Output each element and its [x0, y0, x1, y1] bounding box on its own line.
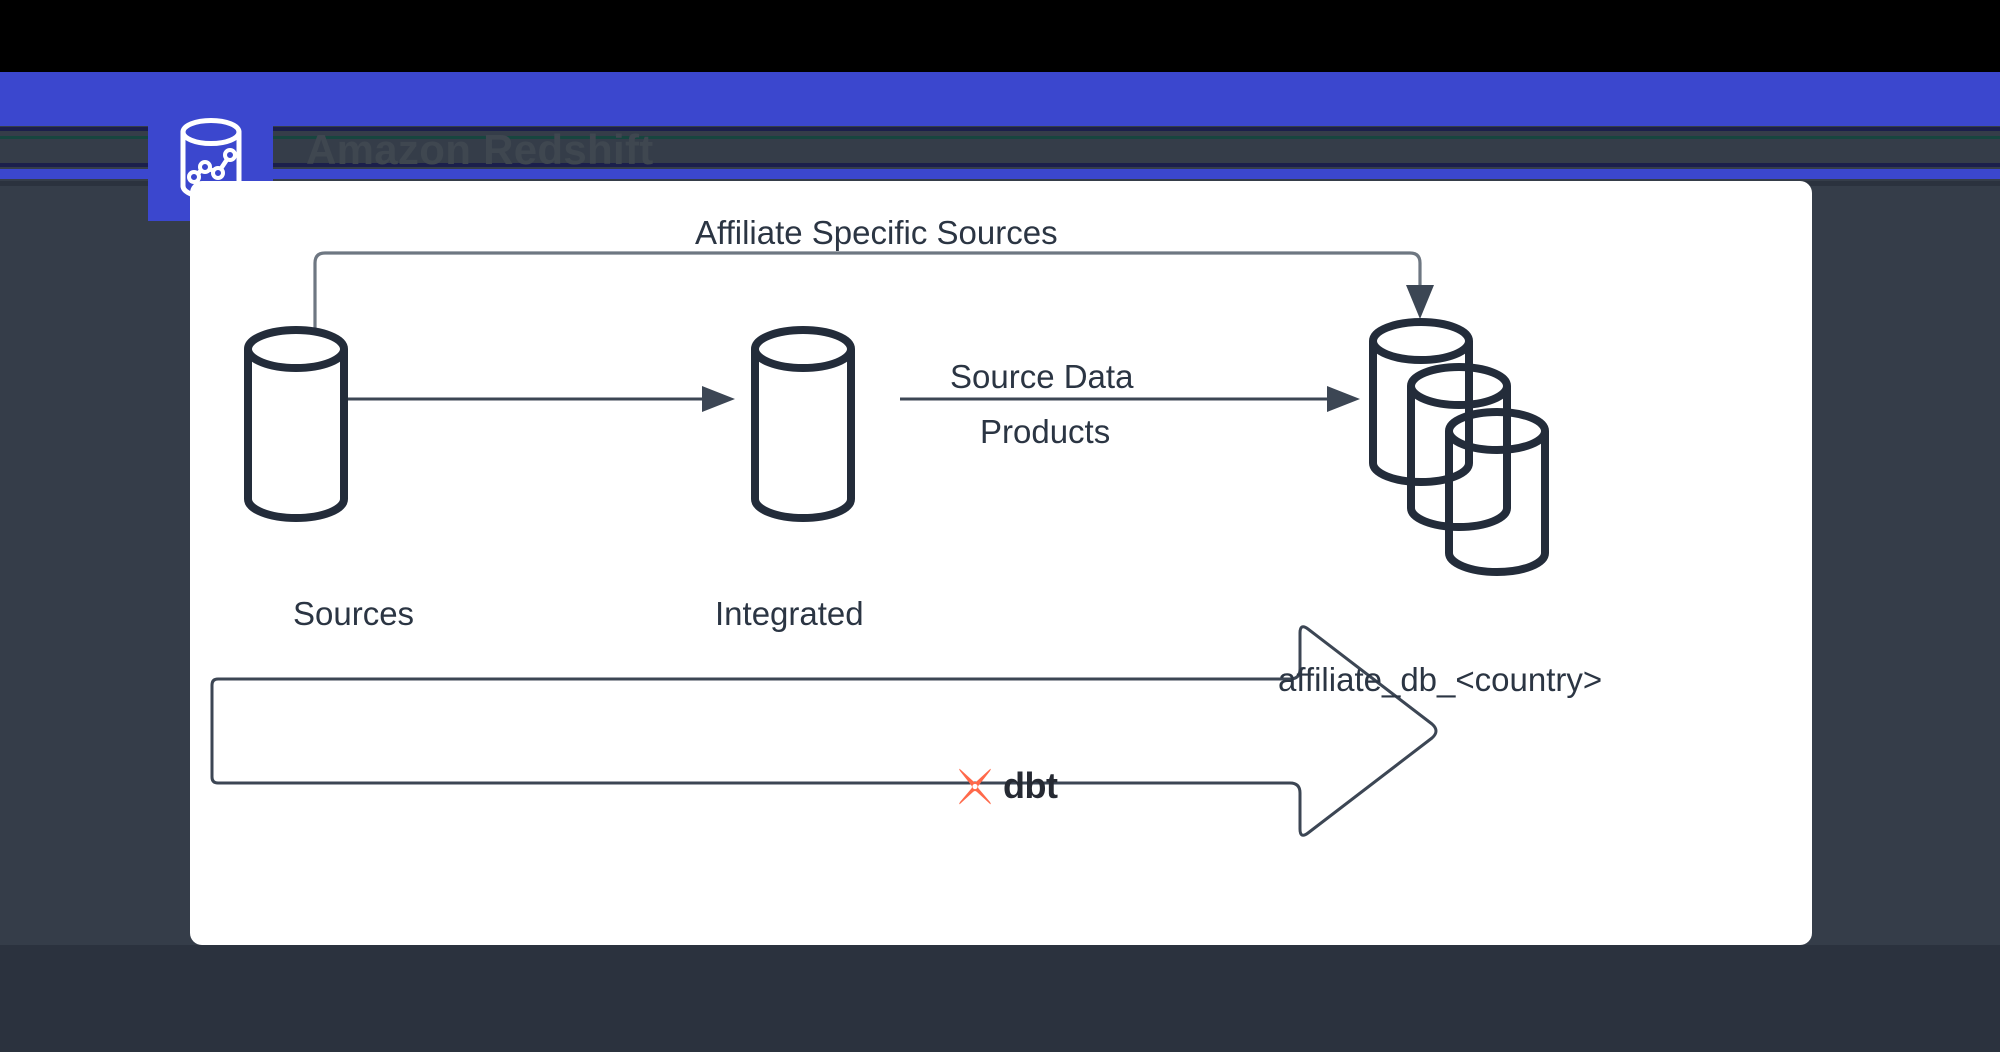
dbt-x-icon [955, 766, 995, 806]
screenshot-stage: Amazon Redshift [0, 0, 2000, 1052]
node-label-sources: Sources [293, 595, 414, 633]
edge-sources-to-integrated [345, 386, 735, 412]
edge-label-source-data-line2: Products [980, 413, 1110, 451]
decor-stripe-b [0, 136, 2000, 139]
cylinder-front [1449, 412, 1545, 572]
node-label-integrated: Integrated [715, 595, 864, 633]
dbt-logo: dbt [955, 766, 1057, 806]
edge-label-affiliate-specific-sources: Affiliate Specific Sources [695, 214, 1058, 252]
node-integrated-cylinder [755, 330, 851, 518]
page-title: Amazon Redshift [306, 126, 654, 174]
top-black-band [0, 0, 2000, 72]
data-flow-diagram [190, 181, 1812, 945]
decor-stripe-c [0, 163, 2000, 167]
header-blue-band-lower [0, 169, 2000, 179]
diagram-card: Affiliate Specific Sources Source Data P… [190, 181, 1812, 945]
header-blue-band [0, 72, 2000, 126]
dbt-wordmark: dbt [1003, 768, 1057, 804]
decor-stripe-a [0, 127, 2000, 131]
edge-affiliate-specific-sources [315, 253, 1434, 449]
node-affiliate-db-cylinder-stack [1373, 322, 1545, 572]
dbt-process-arrow [212, 627, 1436, 836]
bottom-dark-band [0, 945, 2000, 1052]
node-label-affiliate-db: affiliate_db_<country> [1278, 661, 1602, 699]
node-sources-cylinder [248, 330, 344, 518]
edge-label-source-data-line1: Source Data [950, 358, 1133, 396]
